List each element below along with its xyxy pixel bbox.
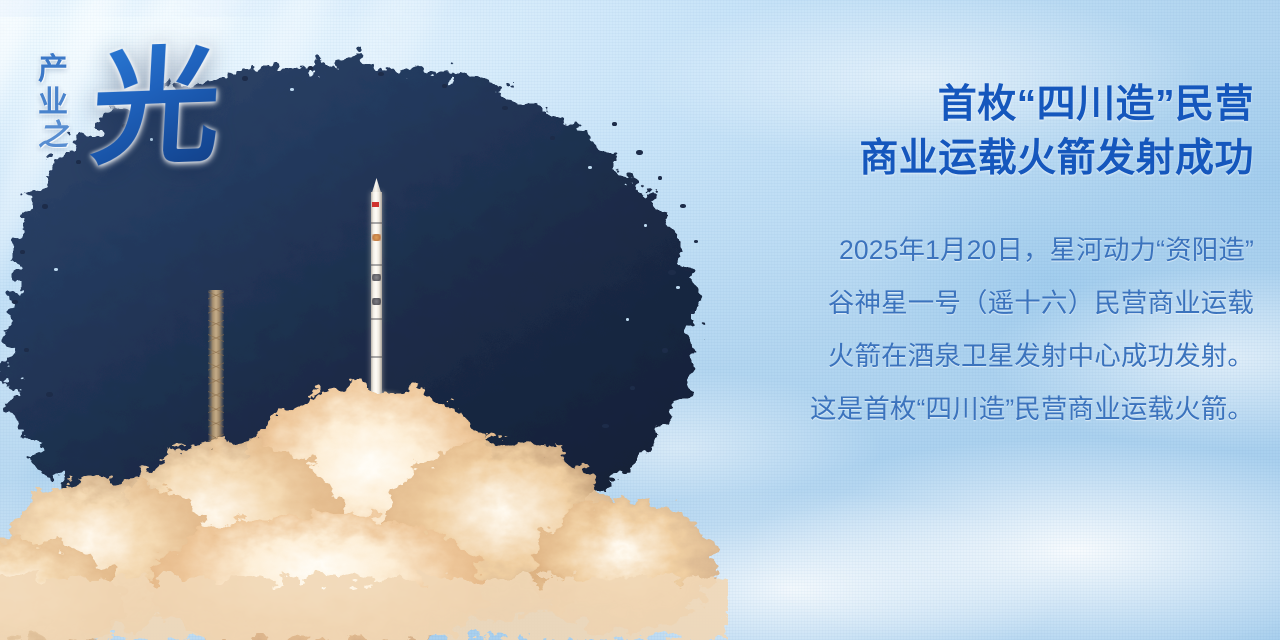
program-logo: 产 业 之 光 bbox=[34, 48, 250, 200]
body-line-4: 这是首枚“四川造”民营商业运载火箭。 bbox=[744, 383, 1254, 436]
rocket-stage-band bbox=[371, 264, 382, 266]
text-panel: 首枚“四川造”民营 商业运载火箭发射成功 2025年1月20日，星河动力“资阳造… bbox=[744, 78, 1254, 436]
rocket-logo-marking bbox=[372, 274, 381, 281]
body-line-1: 2025年1月20日，星河动力“资阳造” bbox=[744, 224, 1254, 277]
headline: 首枚“四川造”民营 商业运载火箭发射成功 bbox=[744, 78, 1254, 186]
exhaust-smoke-clouds bbox=[0, 340, 728, 640]
headline-line-1: 首枚“四川造”民营 bbox=[744, 78, 1254, 132]
logo-char-guang: 光 bbox=[88, 42, 223, 174]
china-flag-marking bbox=[372, 202, 379, 207]
body-line-3: 火箭在酒泉卫星发射中心成功发射。 bbox=[744, 330, 1254, 383]
logo-stacked-chars: 产 业 之 bbox=[38, 54, 69, 152]
body-copy: 2025年1月20日，星河动力“资阳造” 谷神星一号（遥十六）民营商业运载 火箭… bbox=[744, 224, 1254, 436]
poster-canvas: 产 业 之 光 首枚“四川造”民营 商业运载火箭发射成功 2025年1月20日，… bbox=[0, 0, 1280, 640]
logo-char-ye: 业 bbox=[38, 87, 69, 118]
rocket-logo-marking bbox=[372, 298, 381, 305]
body-line-2: 谷神星一号（遥十六）民营商业运载 bbox=[744, 277, 1254, 330]
logo-char-chan: 产 bbox=[38, 54, 69, 85]
rocket-stage-band bbox=[371, 318, 382, 320]
headline-line-2: 商业运载火箭发射成功 bbox=[744, 132, 1254, 186]
rocket-stage-band bbox=[371, 222, 382, 224]
logo-char-zhi: 之 bbox=[38, 120, 69, 151]
rocket-logo-marking bbox=[372, 234, 381, 241]
